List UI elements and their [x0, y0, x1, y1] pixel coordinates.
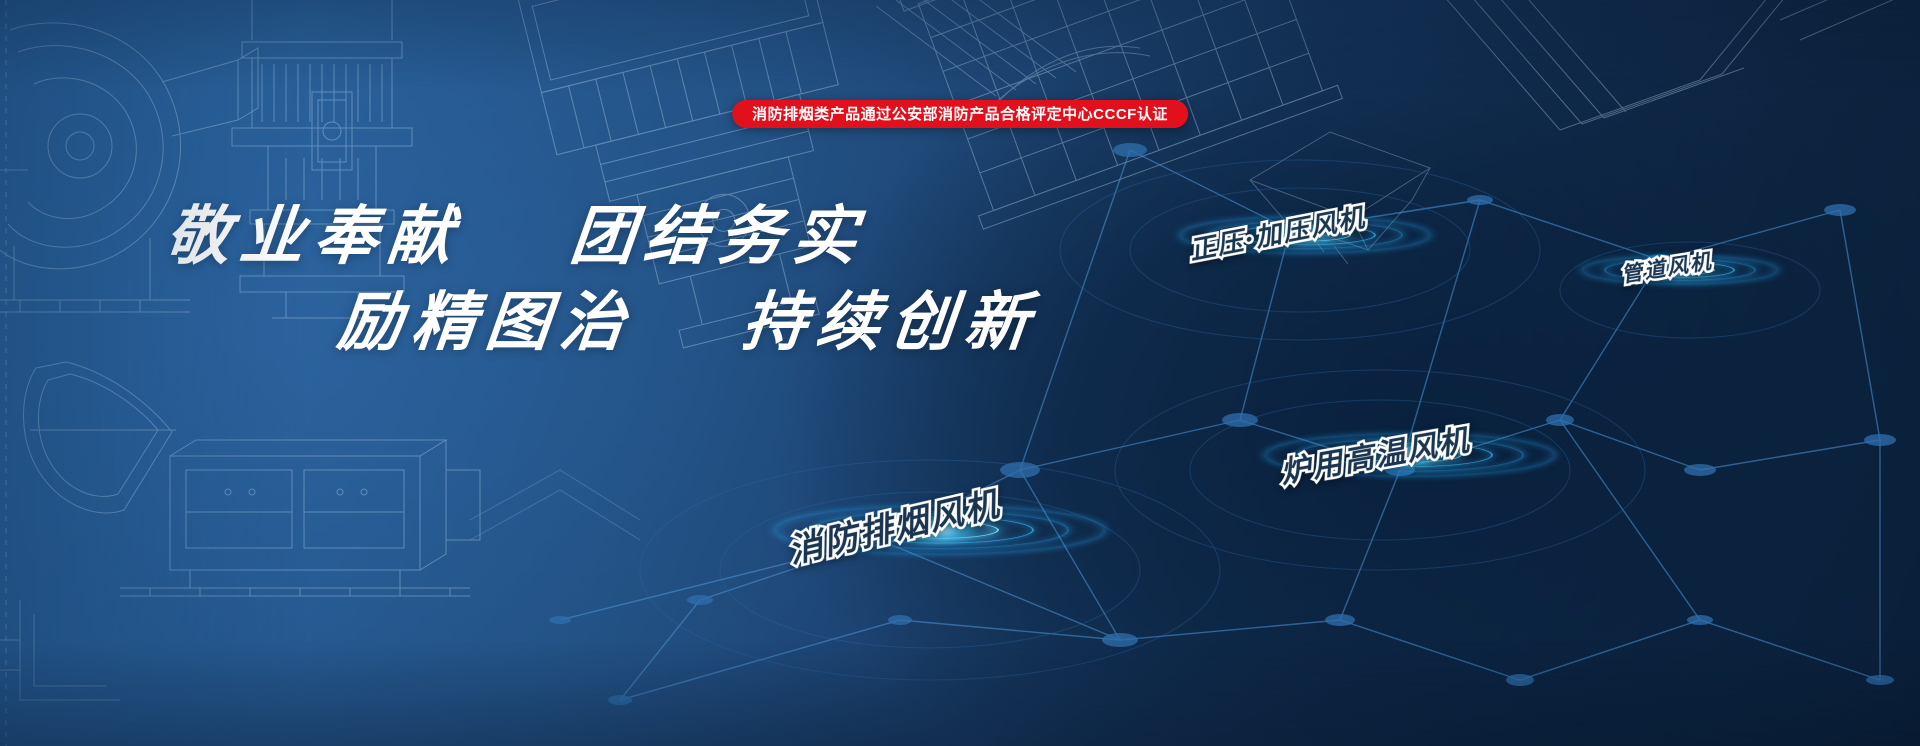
slogan-line-1: 敬业奉献 团结务实: [157, 205, 1042, 269]
product-badge-label: 炉用高温风机: [1276, 396, 1579, 491]
product-badge-label: 正压·加压风机: [1186, 182, 1448, 268]
hero-banner: 消防排烟类产品通过公安部消防产品合格评定中心CCCF认证 敬业奉献 团结务实 励…: [0, 0, 1920, 746]
slogan-line1-part2: 团结务实: [567, 199, 871, 274]
certification-banner: 消防排烟类产品通过公安部消防产品合格评定中心CCCF认证: [732, 100, 1188, 128]
product-badge-guandao[interactable]: 管道风机: [1570, 200, 1790, 340]
slogan-block: 敬业奉献 团结务实 励精图治 持续创新: [160, 205, 1039, 355]
slogan-line-2: 励精图治 持续创新: [157, 291, 1042, 355]
slogan-line2-part1: 励精图治: [334, 285, 638, 360]
certification-banner-text: 消防排烟类产品通过公安部消防产品合格评定中心CCCF认证: [752, 107, 1168, 122]
slogan-line1-part1: 敬业奉献: [162, 199, 466, 274]
product-badge-paiyan[interactable]: 消防排烟风机: [770, 420, 1110, 640]
slogan-line2-part2: 持续创新: [739, 285, 1043, 360]
product-badge-zhengya[interactable]: 正压·加压风机: [1175, 150, 1435, 320]
product-badge-luyong[interactable]: 炉用高温风机: [1260, 360, 1560, 550]
